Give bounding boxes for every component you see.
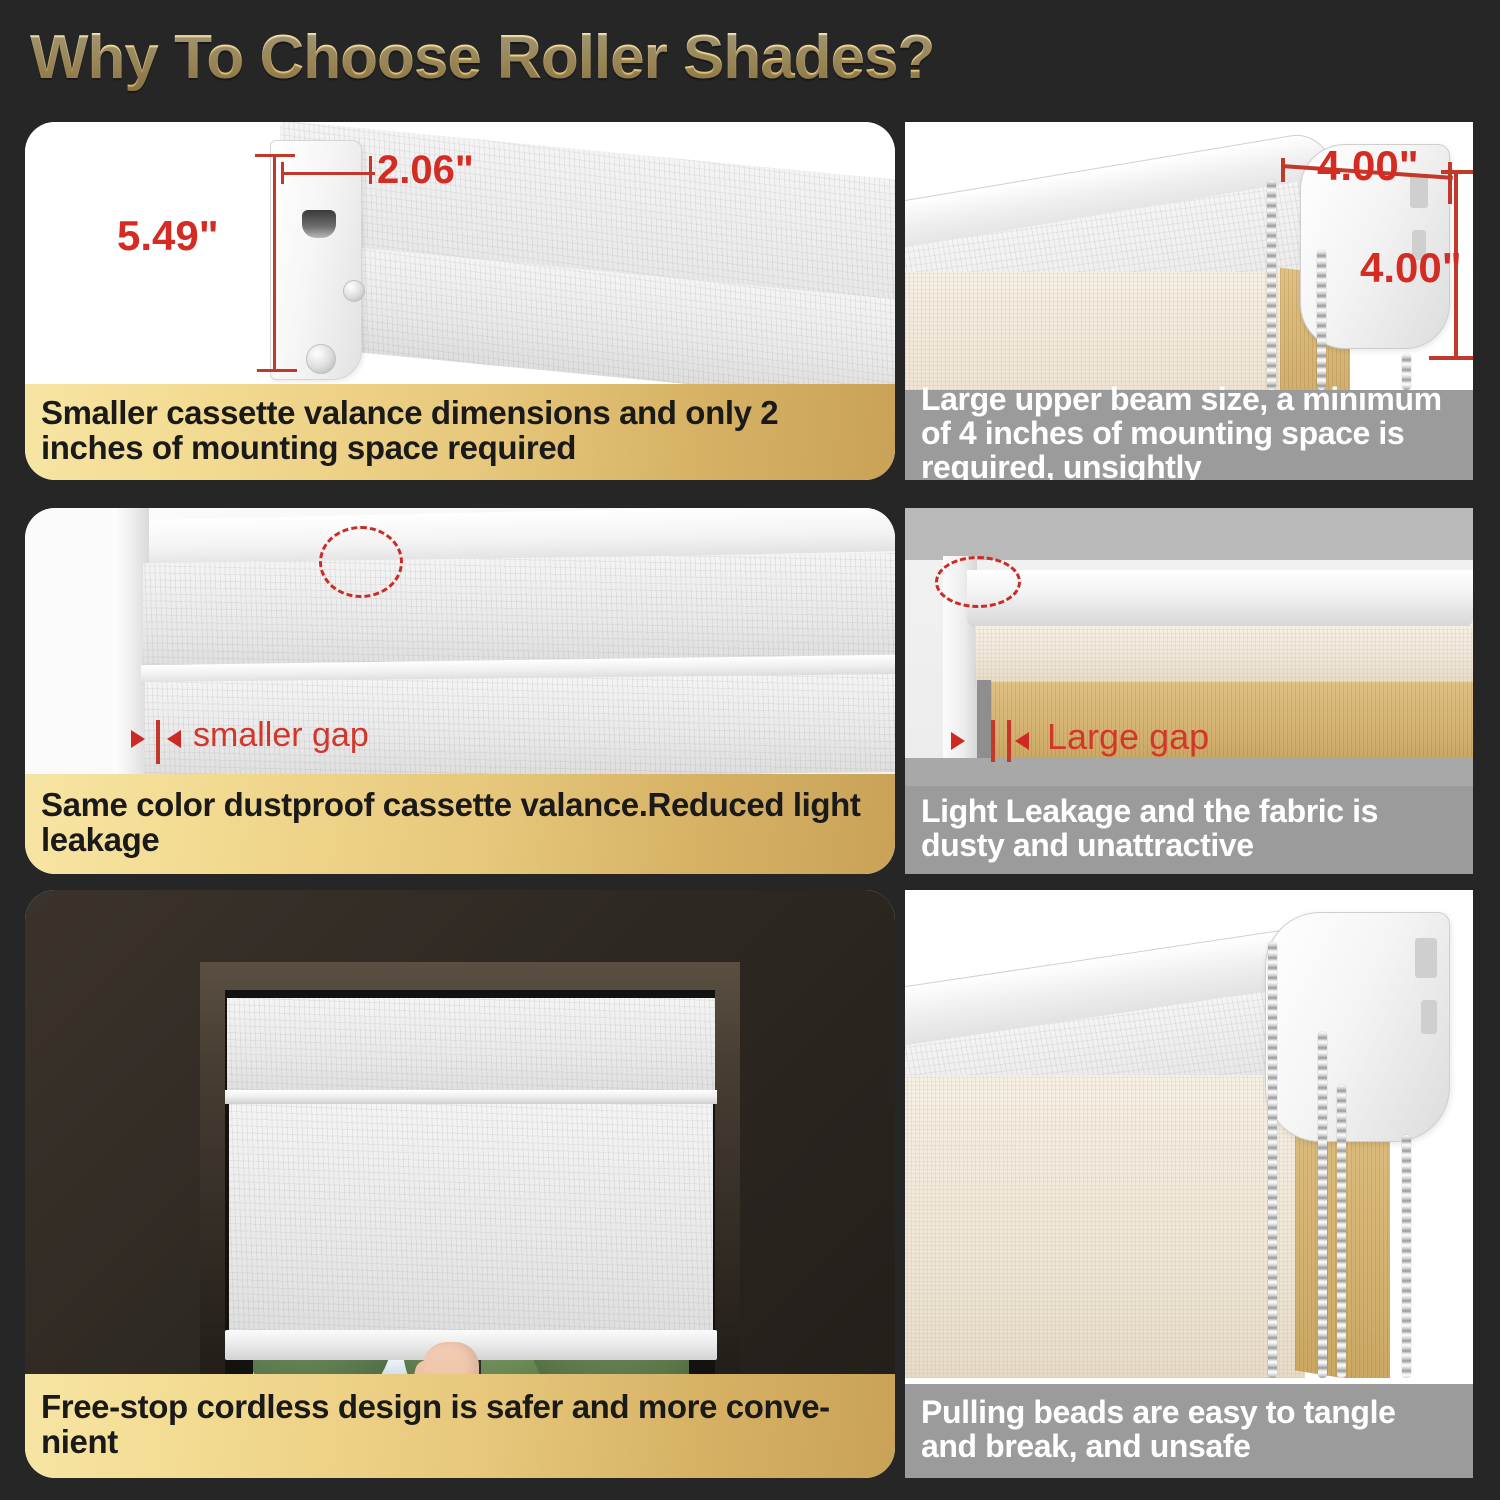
gap-shadow xyxy=(977,680,991,760)
large-upper-beam-image: 4.00" 4.00" xyxy=(905,122,1473,390)
comparison-grid: 5.49" 2.06" Smaller cassette valance dim… xyxy=(0,0,1500,1500)
large-gap-image: Large gap xyxy=(905,508,1473,786)
cassette-valance xyxy=(227,998,715,1096)
gap-arrow-right-icon xyxy=(131,730,145,748)
bracket-notch-lower xyxy=(1421,1000,1437,1034)
highlight-circle-icon xyxy=(935,556,1021,608)
caption-cassette-dimensions: Smaller cassette valance dimensions and … xyxy=(25,384,895,480)
panel-cordless-design: Free-stop cordless design is safer and m… xyxy=(25,890,895,1478)
cassette-slot xyxy=(302,210,336,238)
pulling-beads-image xyxy=(905,890,1473,1378)
smaller-gap-label: smaller gap xyxy=(193,716,369,755)
valance-rail xyxy=(225,1090,717,1104)
panel-cassette-dimensions: 5.49" 2.06" Smaller cassette valance dim… xyxy=(25,122,895,480)
caption-large-upper-beam: Large upper beam size, a minimum of 4 in… xyxy=(905,390,1473,480)
caption-cordless-design: Free-stop cordless design is safer and m… xyxy=(25,1374,895,1478)
shade-fabric xyxy=(229,1104,713,1336)
height-dim-line xyxy=(273,154,276,372)
panel-pulling-beads: Pulling beads are easy to tangle and bre… xyxy=(905,890,1473,1478)
hand xyxy=(423,1342,479,1378)
ceiling-band xyxy=(905,508,1473,560)
gap-marker-line xyxy=(156,720,160,764)
width-dim-tick-right xyxy=(369,156,372,184)
shade-fabric-cream xyxy=(905,272,1315,390)
panel-large-upper-beam: 4.00" 4.00" Large upper beam size, a min… xyxy=(905,122,1473,480)
panel-large-gap: Large gap Light Leakage and the fabric i… xyxy=(905,508,1473,874)
height-dim-tick-bottom xyxy=(1429,356,1473,360)
bead-chain-front[interactable] xyxy=(1267,180,1276,390)
width-dimension-label: 2.06" xyxy=(377,148,474,193)
width-dim-line xyxy=(283,172,375,175)
bottom-band xyxy=(905,758,1473,786)
caption-smaller-gap: Same color dustproof cassette valance.Re… xyxy=(25,774,895,874)
roller-tube xyxy=(967,570,1473,628)
height-dimension-label: 4.00" xyxy=(1360,244,1462,292)
highlight-circle-icon xyxy=(319,526,403,598)
bead-chain-middle[interactable] xyxy=(1318,1032,1327,1378)
cassette-screw-upper xyxy=(343,280,365,302)
gap-marker-line-a xyxy=(991,720,995,762)
shade-fabric-cream xyxy=(905,1075,1305,1378)
caption-text: Light Leakage and the fabric is dusty an… xyxy=(921,795,1457,863)
width-dim-tick-right xyxy=(1448,162,1452,204)
bracket-notch-upper xyxy=(1415,938,1437,978)
gap-arrow-right-icon xyxy=(951,732,965,750)
cassette-dimensions-image: 5.49" 2.06" xyxy=(25,122,895,384)
bead-chain-front[interactable] xyxy=(1268,942,1277,1378)
cassette-valance xyxy=(143,553,895,672)
caption-pulling-beads: Pulling beads are easy to tangle and bre… xyxy=(905,1384,1473,1478)
caption-text: Large upper beam size, a minimum of 4 in… xyxy=(921,383,1457,480)
gap-marker-line-b xyxy=(1007,720,1011,762)
cordless-design-image xyxy=(25,890,895,1378)
caption-large-gap: Light Leakage and the fabric is dusty an… xyxy=(905,786,1473,874)
width-dim-tick-left xyxy=(1281,158,1285,182)
height-dim-tick-bottom xyxy=(257,369,297,372)
caption-text: Free-stop cordless design is safer and m… xyxy=(41,1390,879,1460)
caption-text: Same color dustproof cassette valance.Re… xyxy=(41,788,879,858)
bead-chain-loop[interactable] xyxy=(1402,1135,1411,1378)
large-gap-label: Large gap xyxy=(1047,716,1209,758)
caption-text: Smaller cassette valance dimensions and … xyxy=(41,396,879,466)
cassette-screw-lower xyxy=(306,344,336,374)
width-dim-tick-left xyxy=(281,162,284,184)
bead-chain-back[interactable] xyxy=(1337,1085,1346,1378)
height-dim-tick-top xyxy=(255,154,295,157)
caption-text: Pulling beads are easy to tangle and bre… xyxy=(921,1396,1457,1464)
width-dimension-label: 4.00" xyxy=(1317,142,1419,190)
shade-fabric-cream xyxy=(975,626,1473,682)
height-dimension-label: 5.49" xyxy=(117,212,219,260)
height-dim-tick-top xyxy=(1441,170,1473,174)
gap-arrow-left-icon xyxy=(1015,732,1029,750)
gap-arrow-left-icon xyxy=(167,730,181,748)
smaller-gap-image: smaller gap xyxy=(25,508,895,776)
panel-smaller-gap: smaller gap Same color dustproof cassett… xyxy=(25,508,895,874)
bead-chain-back[interactable] xyxy=(1317,250,1326,390)
